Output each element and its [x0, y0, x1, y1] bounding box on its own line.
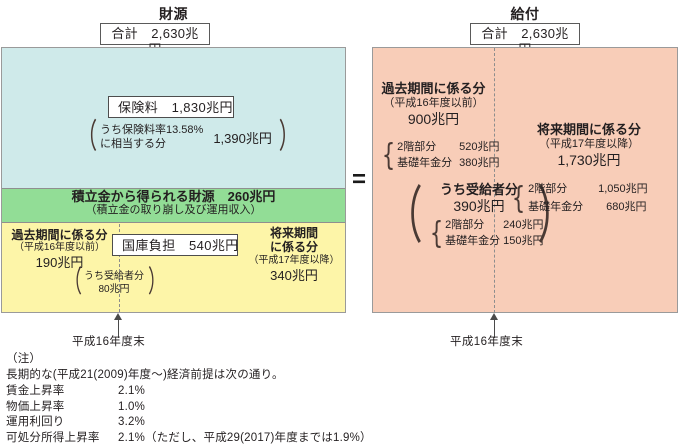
- benefit-past-value: 900兆円: [373, 111, 494, 128]
- funding-future-title-2: に係る分: [242, 240, 346, 254]
- funding-future-value: 340兆円: [242, 268, 346, 284]
- premium-subnote-line1: うち保険料率13.58%: [100, 124, 203, 136]
- footnote-row-key: 運用利回り: [6, 415, 118, 431]
- left-axis-arrow-head: [114, 313, 122, 320]
- funding-past-block: 過去期間に係る分 （平成16年度以前） 190兆円: [2, 228, 117, 271]
- left-axis-caption: 平成16年度末: [72, 333, 145, 349]
- footnote-row-value: 2.1%: [118, 384, 145, 400]
- funding-past-value: 190兆円: [2, 255, 117, 271]
- footnote-row: 可処分所得上昇率 2.1%（ただし、平成29(2017)年度までは1.9%）: [6, 431, 666, 447]
- benefit-past-tier2-label: 2階部分: [397, 140, 459, 156]
- footnote-head: （注）: [6, 352, 666, 368]
- equals-sign: =: [349, 168, 369, 192]
- benefit-past-period: （平成16年度以前）: [373, 97, 494, 110]
- footnote-row-key: 物価上昇率: [6, 400, 118, 416]
- treasury-amount-box: 国庫負担 540兆円: [112, 234, 238, 256]
- left-panel-total-box: 合計 2,630兆円: [100, 23, 210, 45]
- footnote-row-key: 可処分所得上昇率: [6, 431, 118, 447]
- funding-future-title-1: 将来期間: [242, 226, 346, 240]
- reserve-line-2: （積立金の取り崩し及び運用収入）: [2, 204, 345, 217]
- funding-past-recipient-label: うち受給者分: [84, 271, 144, 282]
- benefit-recipient-basic-label: 基礎年金分: [445, 234, 503, 250]
- benefit-future-value: 1,730兆円: [499, 152, 679, 169]
- footnote-row-value: 3.2%: [118, 415, 145, 431]
- footnote-row: 運用利回り 3.2%: [6, 415, 666, 431]
- benefit-future-basic-label: 基礎年金分: [528, 199, 598, 217]
- left-panel-title: 財源: [0, 4, 347, 24]
- benefit-future-title: 将来期間に係る分: [499, 122, 679, 138]
- funding-past-recipient-value: 80兆円: [98, 284, 129, 295]
- footnote-row: 賃金上昇率 2.1%: [6, 384, 666, 400]
- benefit-future-tier2-label: 2階部分: [528, 181, 598, 199]
- premium-subnote: （ うち保険料率13.58% に相当する分 1,390兆円 ）: [70, 123, 285, 152]
- right-panel-total-box: 合計 2,630兆円: [470, 23, 580, 45]
- reserve-line-1: 積立金から得られる財源 260兆円: [2, 189, 345, 204]
- footnote-row-key: 賃金上昇率: [6, 384, 118, 400]
- benefit-past-breakdown: { 2階部分 520兆円 基礎年金分 380兆円: [379, 140, 499, 172]
- right-axis-caption: 平成16年度末: [450, 333, 523, 349]
- benefit-past-basic-label: 基礎年金分: [397, 156, 459, 172]
- benefit-future-basic-value: 680兆円: [606, 199, 646, 217]
- benefit-panel: 過去期間に係る分 （平成16年度以前） 900兆円 { 2階部分 520兆円 基…: [372, 47, 678, 313]
- benefit-past-tier2-value: 520兆円: [459, 140, 499, 156]
- benefit-future-period: （平成17年度以降）: [499, 138, 679, 151]
- benefit-past-block: 過去期間に係る分 （平成16年度以前） 900兆円: [373, 81, 494, 128]
- reserve-text-block: 積立金から得られる財源 260兆円 （積立金の取り崩し及び運用収入）: [2, 189, 345, 217]
- footnote-block: （注） 長期的な(平成21(2009)年度～)経済前提は次の通り。 賃金上昇率 …: [6, 352, 666, 447]
- benefit-past-basic-value: 380兆円: [459, 156, 499, 172]
- benefit-recipient-group: （ うち受給者分 390兆円 { 2階部分 240兆円 基礎年金分 150兆円: [373, 182, 495, 250]
- benefit-future-block: 将来期間に係る分 （平成17年度以降） 1,730兆円: [499, 122, 679, 169]
- benefit-future-breakdown: { 2階部分 1,050兆円 基礎年金分 680兆円: [509, 181, 648, 216]
- premium-subnote-line2: に相当する分: [100, 138, 166, 150]
- funding-future-block: 将来期間 に係る分 （平成17年度以降） 340兆円: [242, 226, 346, 283]
- benefit-past-title: 過去期間に係る分: [373, 81, 494, 97]
- footnote-row-value: 1.0%: [118, 400, 145, 416]
- footnote-row: 物価上昇率 1.0%: [6, 400, 666, 416]
- footnote-intro: 長期的な(平成21(2009)年度～)経済前提は次の通り。: [6, 368, 666, 384]
- funding-past-title: 過去期間に係る分: [2, 228, 117, 242]
- funding-past-period: （平成16年度以前）: [2, 242, 117, 254]
- funding-future-period: （平成17年度以降）: [242, 255, 346, 267]
- right-axis-arrow-head: [490, 313, 498, 320]
- funding-past-recipient-note: （ うち受給者分 80兆円 ）: [58, 270, 172, 296]
- premium-subnote-value: 1,390兆円: [213, 128, 272, 147]
- funding-panel: 保険料 1,830兆円 （ うち保険料率13.58% に相当する分 1,390兆…: [1, 47, 346, 313]
- benefit-period-divider: [494, 48, 495, 313]
- benefit-future-tier2-value: 1,050兆円: [598, 181, 648, 199]
- right-panel-title: 給付: [372, 4, 678, 24]
- premium-amount-box: 保険料 1,830兆円: [108, 96, 234, 118]
- benefit-recipient-tier2-label: 2階部分: [445, 218, 503, 234]
- footnote-row-value: 2.1%（ただし、平成29(2017)年度までは1.9%）: [118, 431, 372, 447]
